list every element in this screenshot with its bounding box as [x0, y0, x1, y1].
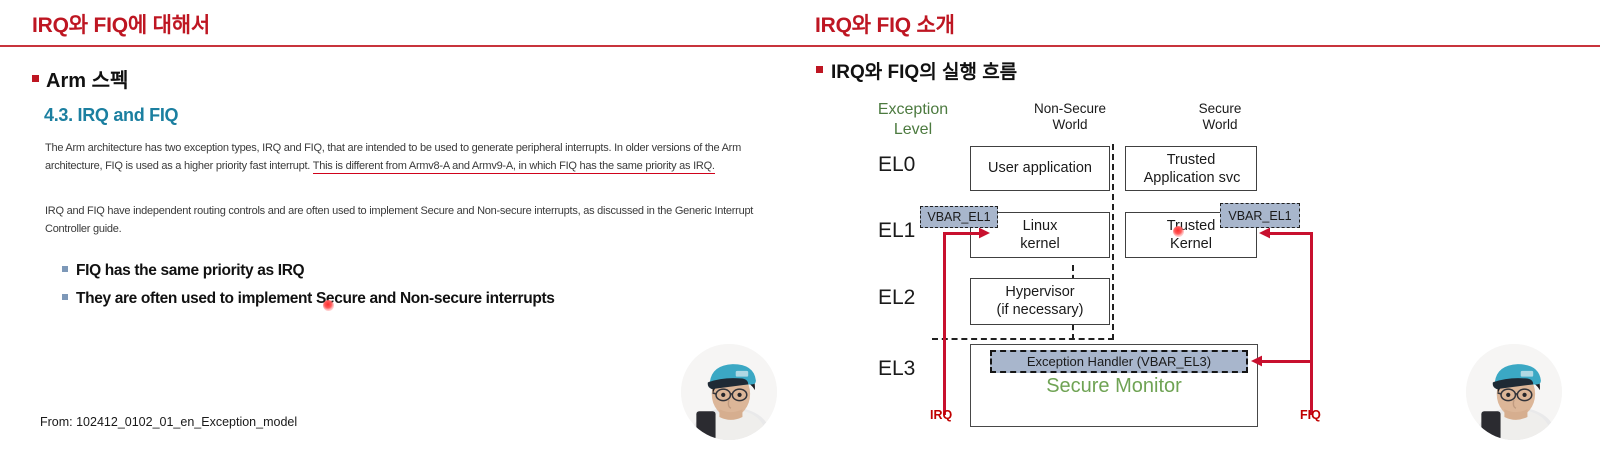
summary-point-label: They are often used to implement Secure …: [76, 290, 555, 307]
exception-level-el1-label: EL1: [878, 219, 915, 243]
presenter-avatar: [681, 344, 777, 440]
badge-vbar-el1-non-secure: VBAR_EL1: [920, 206, 998, 228]
world-separator-vertical: [1112, 144, 1114, 340]
bullet-square-icon: [32, 75, 39, 82]
secure-monitor-label: Secure Monitor: [970, 375, 1258, 398]
badge-exception-handler-vbar-el3: Exception Handler (VBAR_EL3): [990, 350, 1248, 373]
left-bullet-heading-label: Arm 스펙: [46, 70, 128, 92]
presenter-webcam-left[interactable]: [681, 344, 777, 440]
irq-flow-line-vertical: [943, 232, 946, 415]
fiq-flow-line-to-vbar-el3: [1262, 360, 1313, 363]
box-trusted-application-line-2: Application svc: [1128, 170, 1256, 188]
summary-point-list: FIQ has the same priority as IRQ They ar…: [62, 262, 555, 318]
left-bullet-heading: Arm 스펙: [32, 64, 128, 93]
box-hypervisor-line-2: (if necessary): [971, 302, 1109, 320]
summary-point-label: FIQ has the same priority as IRQ: [76, 262, 304, 279]
left-title-divider: [0, 45, 800, 47]
exception-level-el2-label: EL2: [878, 286, 915, 310]
bullet-square-icon: [62, 266, 68, 272]
spec-paragraph-2: IRQ and FIQ have independent routing con…: [45, 203, 775, 239]
fiq-flow-line-to-vbar-el1: [1270, 232, 1313, 235]
source-reference-note: From: 102412_0102_01_en_Exception_model: [40, 415, 297, 429]
exception-level-el0-label: EL0: [878, 153, 915, 177]
exception-level-el3-label: EL3: [878, 357, 915, 381]
box-hypervisor-line-1: Hypervisor: [971, 284, 1109, 302]
irq-flow-label: IRQ: [930, 408, 952, 422]
box-user-application: User application: [970, 146, 1110, 191]
fiq-arrowhead-vbar-el3-icon: [1247, 352, 1265, 370]
list-item: They are often used to implement Secure …: [62, 290, 555, 308]
axis-label-line-1: Exception: [858, 100, 968, 120]
world-separator-horizontal: [932, 338, 1114, 340]
box-trusted-kernel-line-2: Kernel: [1126, 236, 1256, 254]
arm-spec-subheading: 4.3. IRQ and FIQ: [44, 105, 178, 126]
list-item: FIQ has the same priority as IRQ: [62, 262, 555, 280]
axis-label-line-2: Level: [858, 120, 968, 140]
left-slide-title: IRQ와 FIQ에 대해서: [32, 9, 210, 39]
box-hypervisor: Hypervisor (if necessary): [970, 278, 1110, 325]
fiq-flow-label: FIQ: [1300, 408, 1321, 422]
column-header-line-2: World: [1125, 117, 1315, 133]
column-header-line-1: Secure: [1125, 101, 1315, 117]
box-trusted-application-line-1: Trusted: [1126, 152, 1256, 170]
fiq-flow-line-vertical: [1310, 232, 1313, 415]
badge-vbar-el1-secure: VBAR_EL1: [1220, 203, 1300, 228]
column-header-secure: Secure World: [1125, 101, 1315, 133]
exception-level-axis-label: Exception Level: [858, 100, 968, 139]
left-slide-panel: IRQ와 FIQ에 대해서 Arm 스펙 4.3. IRQ and FIQ Th…: [0, 0, 800, 451]
box-user-application-label: User application: [988, 160, 1092, 178]
spec-paragraph-1-highlight: This is different from Armv8-A and Armv9…: [313, 160, 715, 174]
presenter-webcam-right[interactable]: [1466, 344, 1562, 440]
box-trusted-application: Trusted Application svc: [1125, 146, 1257, 191]
presenter-avatar: [1466, 344, 1562, 440]
spec-paragraph-1: The Arm architecture has two exception t…: [45, 140, 775, 176]
bullet-square-icon: [62, 294, 68, 300]
